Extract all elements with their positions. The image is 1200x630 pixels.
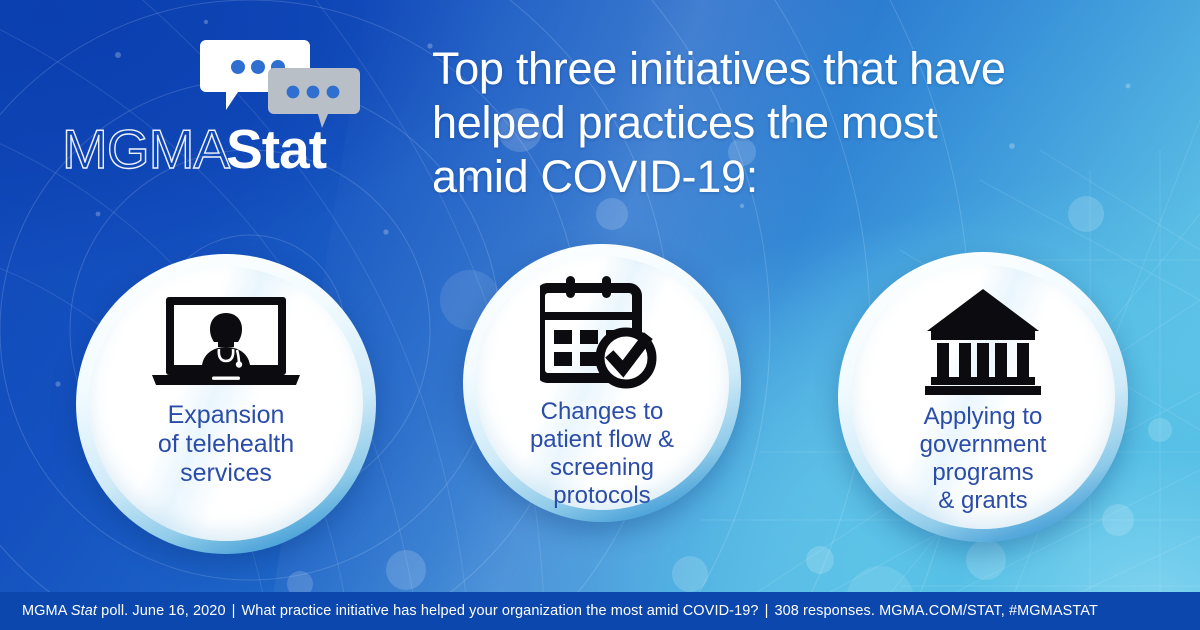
logo-stat-text: Stat [226, 118, 326, 180]
footer-question: What practice initiative has helped your… [242, 603, 759, 619]
government-building-icon [923, 287, 1043, 395]
columns [937, 343, 1029, 377]
footer-source-italic: Stat [71, 603, 97, 619]
headline-line-3: amid COVID-19: [432, 150, 1132, 204]
headline-line-2: helped practices the most [432, 96, 1132, 150]
label-line: Expansion [158, 401, 294, 430]
mgma-stat-logo: MGMAStat [62, 36, 362, 166]
initiative-card-telehealth: Expansion of telehealth services [76, 254, 376, 554]
laptop-telehealth-doctor-icon [146, 295, 306, 391]
initiative-label-telehealth: Expansion of telehealth services [158, 401, 294, 488]
initiative-card-patient-flow-inner: Changes to patient flow & screening prot… [475, 256, 729, 510]
initiative-card-patient-flow: Changes to patient flow & screening prot… [463, 244, 741, 522]
initiative-card-government-grants-inner: Applying to government programs & grants [851, 265, 1115, 529]
label-line: of telehealth [158, 430, 294, 459]
footer-bar: MGMA Stat poll. June 16, 2020|What pract… [0, 592, 1200, 630]
label-line: government [920, 431, 1047, 459]
footer-responses: 308 responses. MGMA.COM/STAT, #MGMASTAT [774, 603, 1098, 619]
footer-separator-2: | [759, 603, 775, 619]
footer-source-prefix: MGMA [22, 603, 71, 619]
logo-mgma-text: MGMA [62, 118, 229, 180]
label-line: screening [530, 454, 674, 482]
initiative-card-government-grants: Applying to government programs & grants [838, 252, 1128, 542]
label-line: Applying to [920, 403, 1047, 431]
logo-wordmark: MGMAStat [62, 122, 326, 177]
headline-line-1: Top three initiatives that have [432, 42, 1132, 96]
footer-separator-1: | [226, 603, 242, 619]
label-line: & grants [920, 487, 1047, 515]
calendar-checkmark-icon [540, 276, 664, 392]
footer-source-line: MGMA Stat poll. June 16, 2020|What pract… [0, 603, 1098, 619]
initiative-card-telehealth-inner: Expansion of telehealth services [89, 267, 363, 541]
label-line: protocols [530, 482, 674, 510]
label-line: patient flow & [530, 426, 674, 454]
label-line: Changes to [530, 398, 674, 426]
label-line: programs [920, 459, 1047, 487]
label-line: services [158, 459, 294, 488]
initiative-label-government-grants: Applying to government programs & grants [920, 403, 1047, 515]
speech-bubbles-icon [200, 36, 360, 128]
footer-source-suffix: poll. June 16, 2020 [97, 603, 226, 619]
page-title: Top three initiatives that have helped p… [432, 42, 1132, 204]
initiative-label-patient-flow: Changes to patient flow & screening prot… [530, 398, 674, 510]
infographic-canvas: MGMAStat Top three initiatives that have… [0, 0, 1200, 630]
